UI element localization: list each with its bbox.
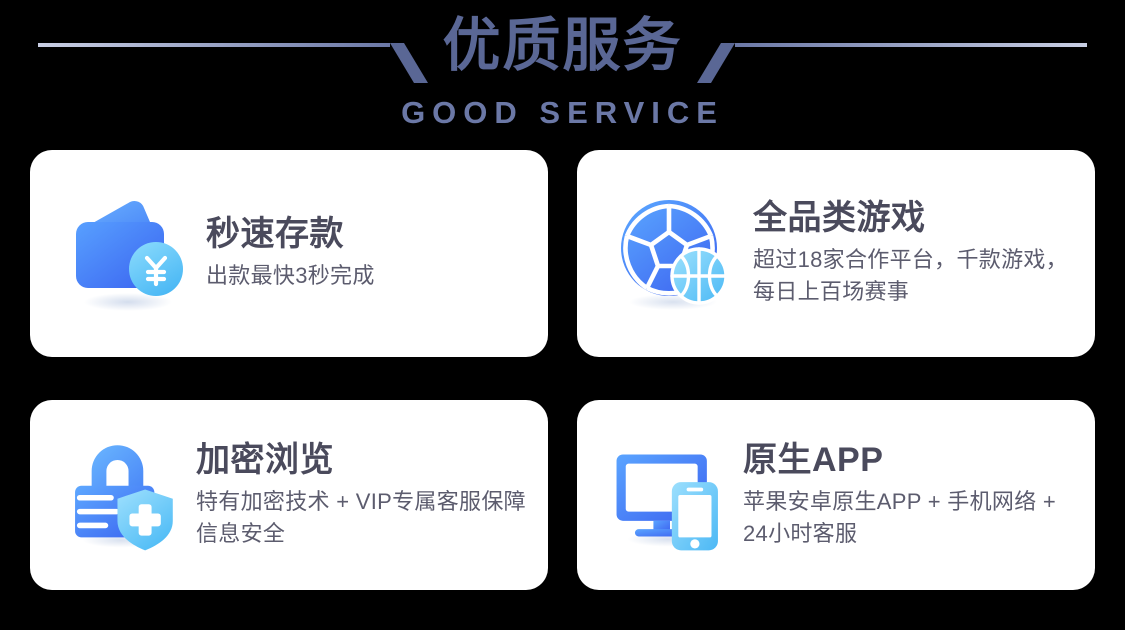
right-angle-rule (697, 13, 1087, 83)
feature-card-grid: 秒速存款 出款最快3秒完成 (30, 150, 1095, 590)
feature-card[interactable]: 全品类游戏 超过18家合作平台，千款游戏，每日上百场赛事 (577, 150, 1095, 357)
feature-card-title: 原生APP (743, 441, 1079, 480)
page-subtitle: GOOD SERVICE (0, 94, 1125, 131)
wallet-icon (64, 190, 192, 318)
feature-card-text: 全品类游戏 超过18家合作平台，千款游戏，每日上百场赛事 (753, 199, 1079, 308)
feature-card-text: 原生APP 苹果安卓原生APP + 手机网络 + 24小时客服 (743, 441, 1079, 550)
feature-card-subtitle: 特有加密技术 + VIP专属客服保障信息安全 (196, 486, 532, 550)
feature-card-subtitle: 超过18家合作平台，千款游戏，每日上百场赛事 (753, 244, 1079, 308)
feature-card-text: 加密浏览 特有加密技术 + VIP专属客服保障信息安全 (196, 441, 532, 550)
monitor-phone-icon (611, 436, 729, 554)
promo-banner: 优质服务 GOOD SERVICE (0, 0, 1125, 630)
feature-card[interactable]: 加密浏览 特有加密技术 + VIP专属客服保障信息安全 (30, 400, 548, 590)
header-title-row: 优质服务 (0, 0, 1125, 96)
feature-card-text: 秒速存款 出款最快3秒完成 (206, 215, 532, 292)
feature-card-title: 加密浏览 (196, 441, 532, 480)
feature-card-subtitle: 出款最快3秒完成 (206, 260, 532, 292)
lock-shield-icon (64, 436, 182, 554)
feature-card-title: 全品类游戏 (753, 199, 1079, 238)
feature-card[interactable]: 秒速存款 出款最快3秒完成 (30, 150, 548, 357)
banner-header: 优质服务 GOOD SERVICE (0, 0, 1125, 145)
feature-card[interactable]: 原生APP 苹果安卓原生APP + 手机网络 + 24小时客服 (577, 400, 1095, 590)
page-title: 优质服务 (428, 17, 696, 75)
feature-card-subtitle: 苹果安卓原生APP + 手机网络 + 24小时客服 (743, 486, 1079, 550)
feature-card-title: 秒速存款 (206, 215, 532, 254)
left-angle-rule (38, 13, 428, 83)
soccer-basketball-icon (611, 190, 739, 318)
